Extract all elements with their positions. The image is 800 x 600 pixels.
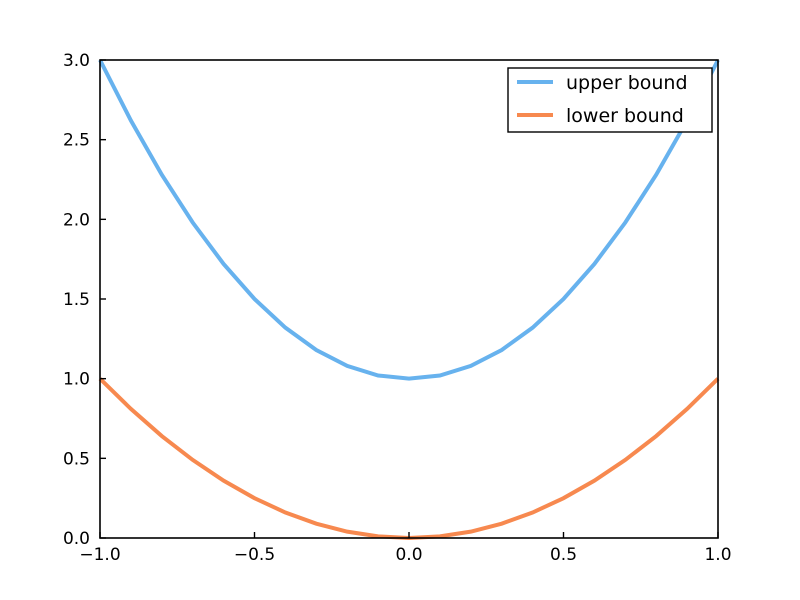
y-tick-label: 1.5 [63,290,90,310]
figure-canvas: −1.0−0.50.00.51.00.00.51.01.52.02.53.0 u… [0,0,800,600]
x-tick-label: 0.0 [395,545,422,565]
x-tick-label: 0.5 [550,545,577,565]
chart-legend[interactable]: upper boundlower bound [508,68,712,132]
y-tick-label: 1.0 [63,370,90,390]
x-tick-label: 1.0 [704,545,731,565]
y-tick-label: 2.5 [63,131,90,151]
y-tick-label: 0.0 [63,529,90,549]
legend-label-lower-bound: lower bound [566,105,684,127]
x-tick-label: −0.5 [234,545,275,565]
y-tick-label: 2.0 [63,210,90,230]
y-tick-label: 0.5 [63,449,90,469]
legend-label-upper-bound: upper bound [566,72,688,94]
chart-plot: −1.0−0.50.00.51.00.00.51.01.52.02.53.0 u… [0,0,800,600]
y-tick-label: 3.0 [63,51,90,71]
